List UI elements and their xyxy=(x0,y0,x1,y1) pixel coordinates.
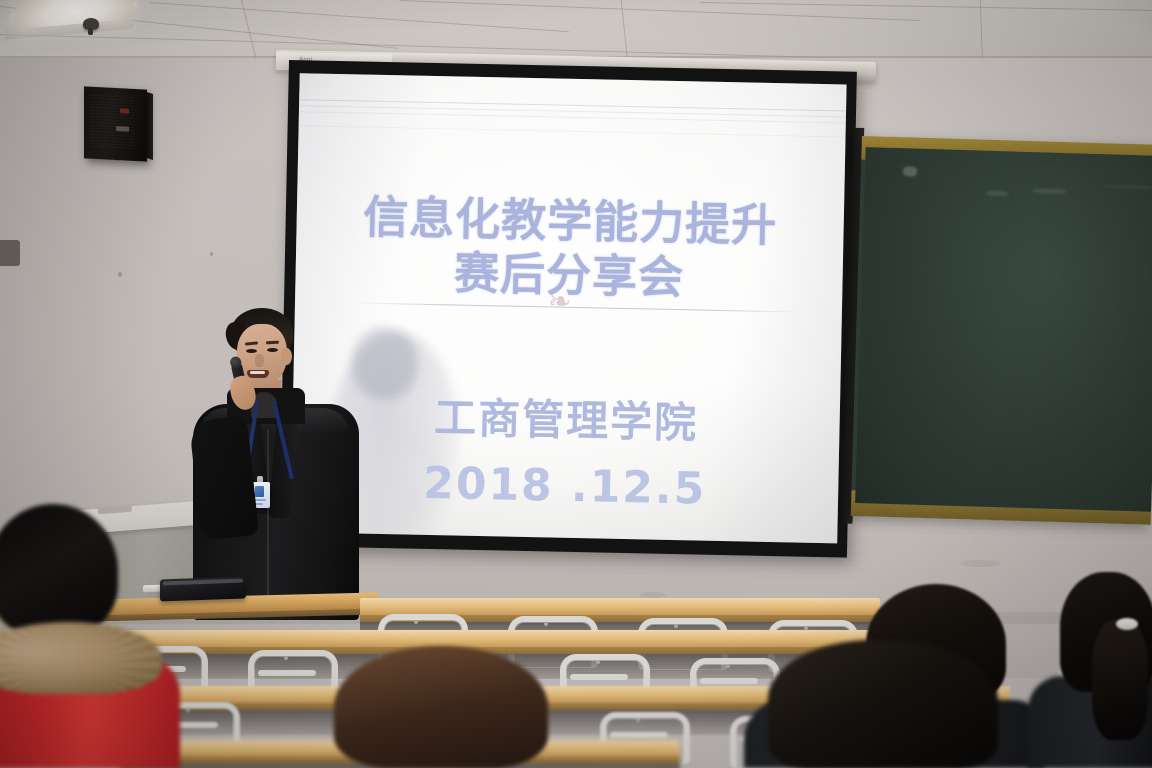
audience-head xyxy=(334,646,548,768)
presenter-eye-right xyxy=(267,348,278,352)
audience-head xyxy=(768,640,998,768)
classroom-photograph: Aoqi 信息化教学能力提升 赛后分享会 ❧ 工商管理学院 2018 .12.5 xyxy=(0,0,1152,768)
presenter-ear xyxy=(281,348,292,365)
presenter-nose xyxy=(255,354,264,367)
presenter-eye-left xyxy=(246,349,257,353)
audience-ponytail xyxy=(1092,620,1148,740)
projection-screen-surface: 信息化教学能力提升 赛后分享会 ❧ 工商管理学院 2018 .12.5 xyxy=(290,73,846,543)
badge-photo xyxy=(255,486,264,497)
slide-organization: 工商管理学院 xyxy=(292,381,840,453)
presenter-coat-seam xyxy=(267,430,269,610)
fur-trimmed-hood xyxy=(0,622,162,694)
sprinkler-head-icon xyxy=(83,18,99,30)
small-white-object xyxy=(143,585,161,593)
wall-mounted-loudspeaker xyxy=(84,86,147,161)
speaker-indicator xyxy=(120,108,129,113)
blackboard-surface xyxy=(855,147,1152,512)
projection-screen: 信息化教学能力提升 赛后分享会 ❧ 工商管理学院 2018 .12.5 xyxy=(279,60,857,558)
hairband xyxy=(1116,618,1138,630)
speaker-label-tag xyxy=(116,126,129,132)
wall-mark xyxy=(0,240,20,266)
speaker-grille xyxy=(90,95,134,151)
presenter-arm xyxy=(189,415,259,540)
slide-ornament-icon: ❧ xyxy=(548,284,572,317)
audience-member-red-coat xyxy=(0,612,180,768)
blackboard xyxy=(851,136,1152,525)
presenter-mouth xyxy=(247,370,269,378)
presenter xyxy=(185,300,365,620)
